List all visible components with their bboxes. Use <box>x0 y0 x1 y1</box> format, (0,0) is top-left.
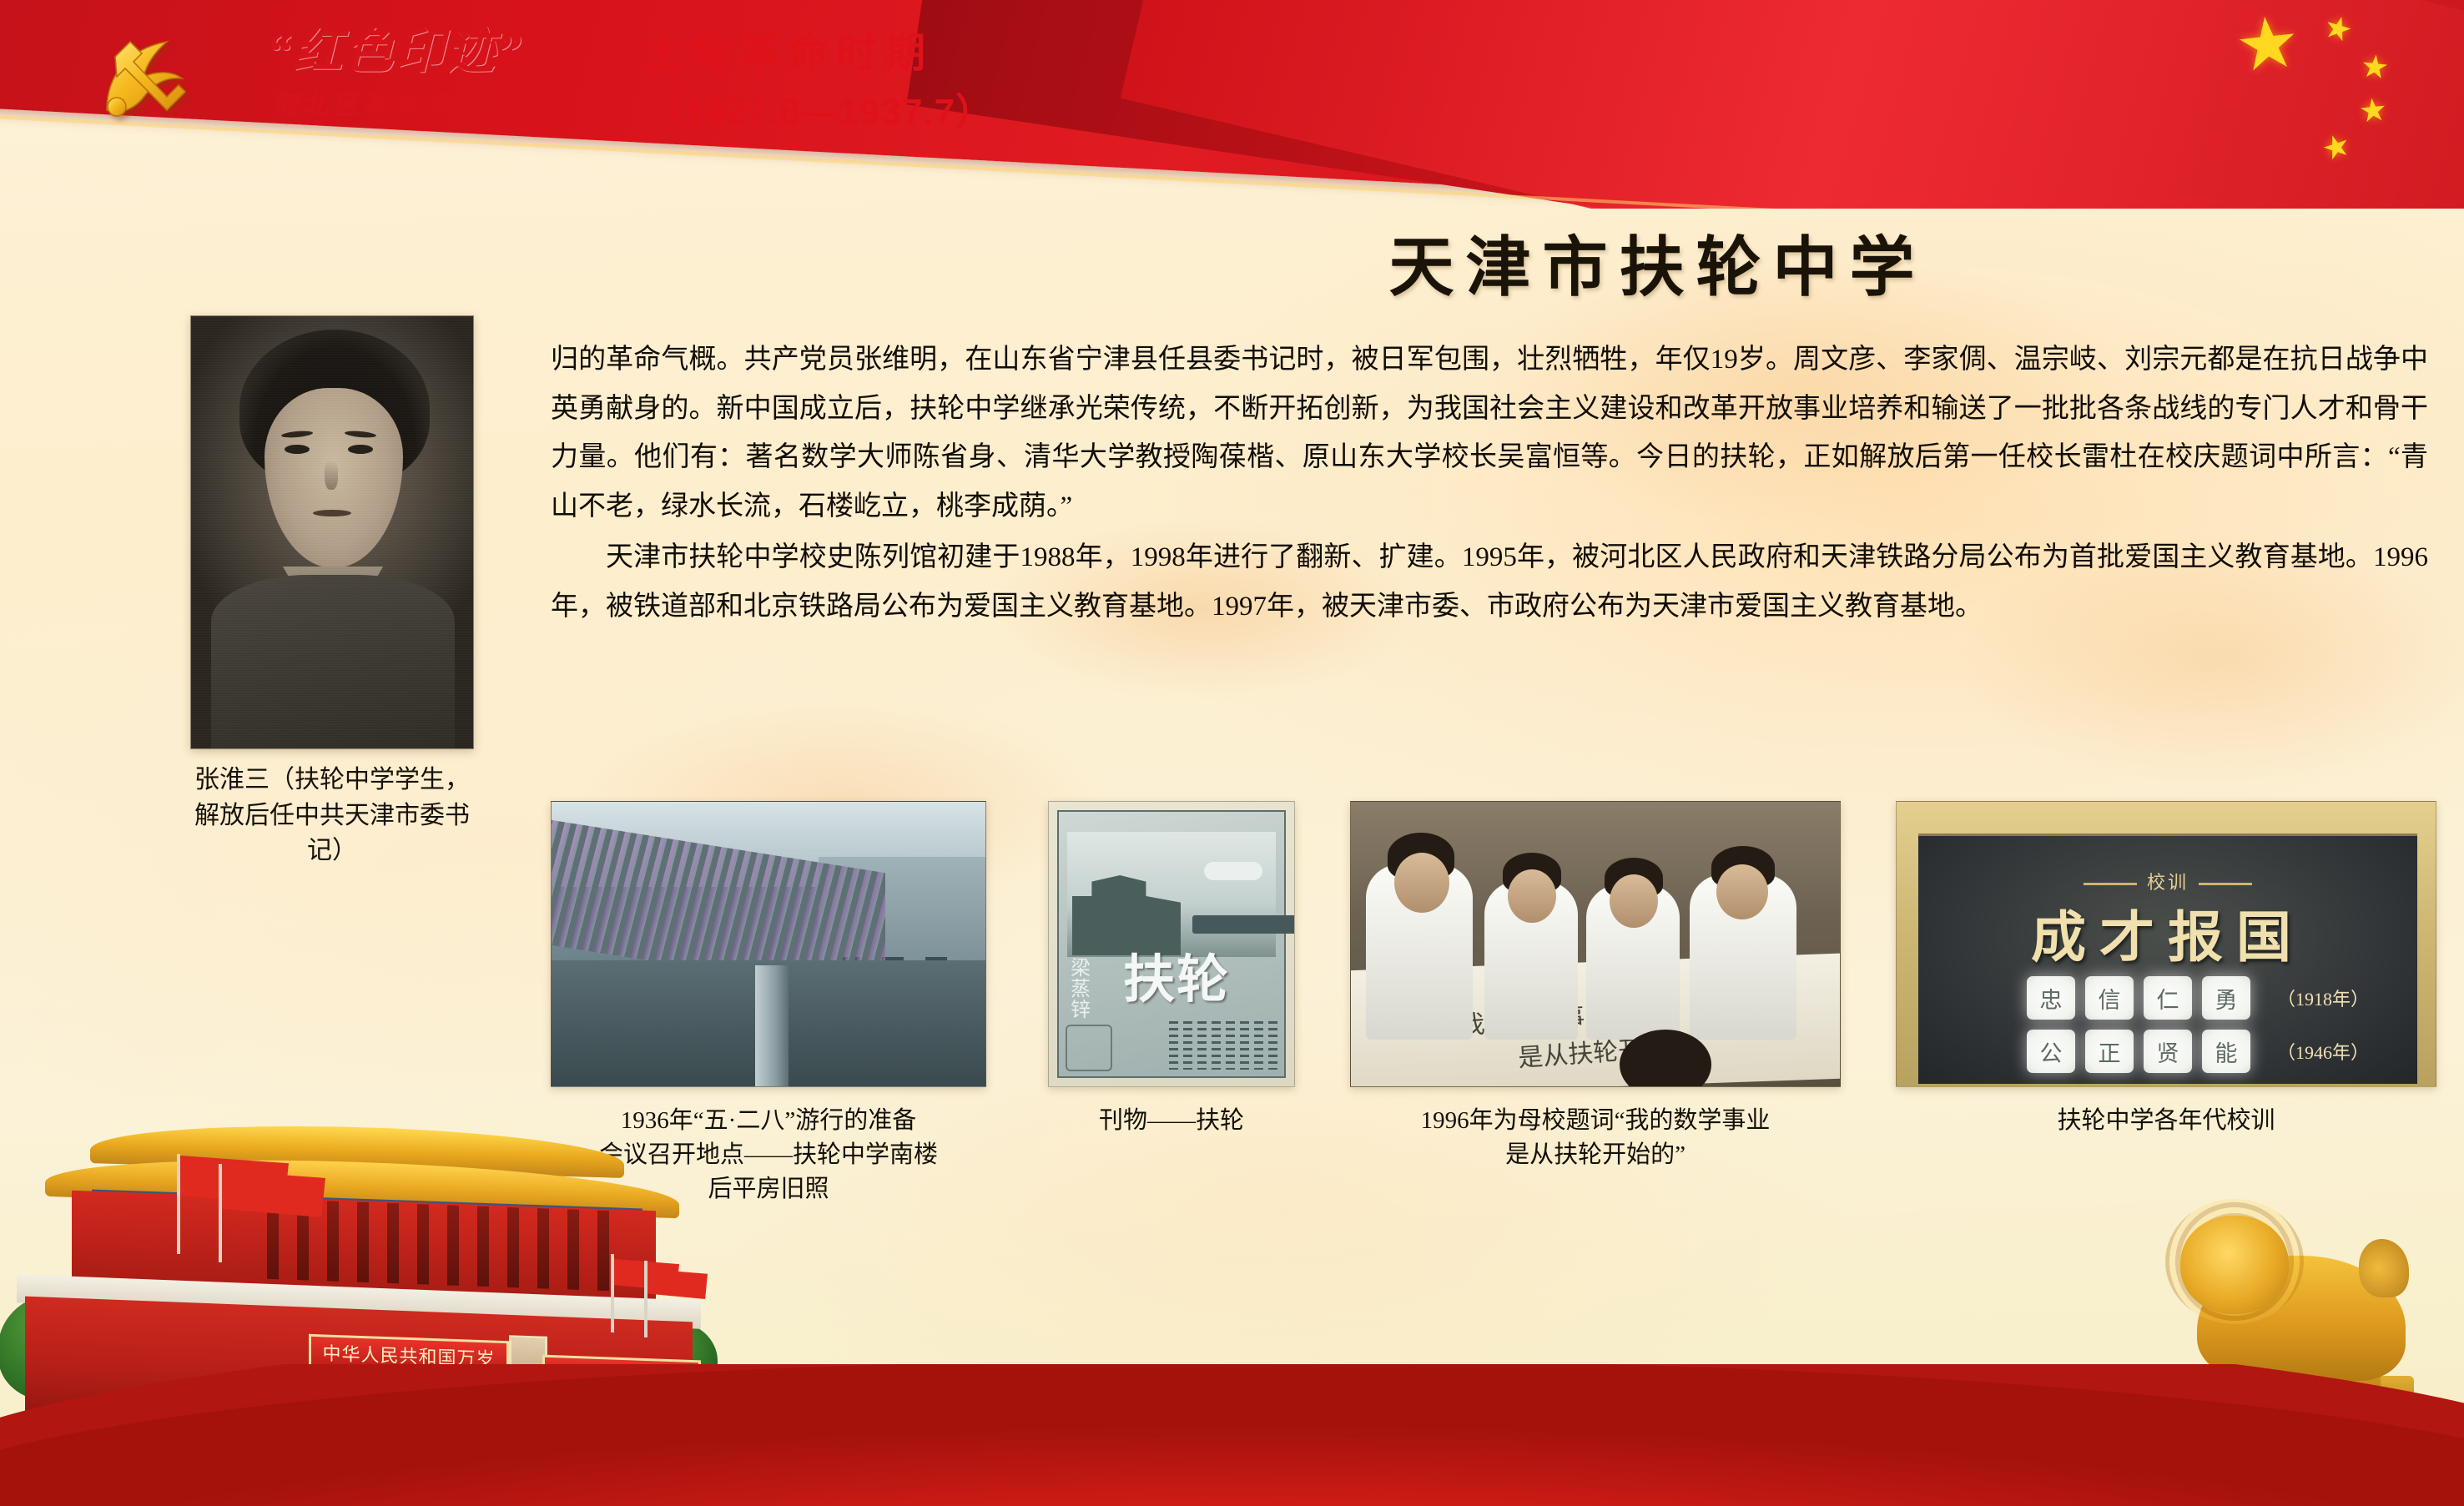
exhibition-board: ★ ★ ★ ★ ★ “红色印迹” 河北区革命遗址展 土地革命时期 （1927 <box>0 0 2464 1506</box>
portrait-photo <box>190 315 474 749</box>
ribbon-gold-edge <box>0 1364 2464 1493</box>
motto-char: 能 <box>2202 1030 2250 1073</box>
lion-tail <box>2359 1239 2409 1297</box>
motto-row-1946: 公 正 贤 能 （1946年） <box>2027 1030 2369 1073</box>
motto-board-label: 校训 <box>2147 872 2189 893</box>
star-icon: ★ <box>2318 128 2355 168</box>
article-paragraph-2: 天津市扶轮中学校史陈列馆初建于1988年，1998年进行了翻新、扩建。1995年… <box>551 533 2428 631</box>
motto-char: 勇 <box>2202 976 2250 1020</box>
photo-person-head <box>1508 869 1556 923</box>
period-years: （1927.8—1937.7） <box>646 82 1227 135</box>
page-title: 天津市扶轮中学 <box>0 215 2464 309</box>
column <box>357 1202 369 1282</box>
rule-left <box>2084 883 2137 885</box>
caption-line: 1996年为母校题词“我的数学事业 <box>1350 1104 1841 1138</box>
motto-board-label-row: 校训 <box>1918 868 2417 894</box>
motto-board-grid: 忠 信 仁 勇 （1918年） 公 正 贤 能 （1946年） <box>2027 976 2369 1083</box>
motto-board-motto: 成才报国 <box>1918 893 2417 973</box>
cloud-illustration <box>1204 862 1262 880</box>
portrait-caption: 张淮三（扶轮中学学生， 解放后任中共天津市委书记） <box>190 763 474 869</box>
star-icon: ★ <box>2320 10 2356 48</box>
caption-line: 是从扶轮开始的” <box>1350 1138 1841 1172</box>
column <box>537 1208 549 1288</box>
flag-stars-group: ★ ★ ★ ★ ★ <box>2072 7 2431 182</box>
toc-line <box>1268 1021 1277 1070</box>
toc-line <box>1226 1021 1235 1070</box>
column <box>447 1205 459 1285</box>
train-illustration <box>1192 915 1295 934</box>
gallery-item: 我的数学事业 是从扶轮开始的 1996年为母校题词“我的数学事业 是从扶轮开始的 <box>1350 801 1841 1172</box>
photo-chimney <box>755 965 789 1087</box>
period-block: 土地革命时期 （1927.8—1937.7） <box>642 32 1227 135</box>
photo-caption: 扶轮中学各年代校训 <box>1896 1104 2436 1138</box>
motto-row-1918: 忠 信 仁 勇 （1918年） <box>2027 976 2369 1020</box>
rule-right <box>2199 883 2252 885</box>
gallery-item: 梁蒸锌 扶轮 刊物——扶轮 <box>1048 801 1295 1138</box>
portrait-block: 张淮三（扶轮中学学生， 解放后任中共天津市委书记） <box>190 315 474 869</box>
caption-line: 扶轮中学各年代校训 <box>1896 1104 2436 1138</box>
column <box>507 1207 519 1287</box>
bottom-ribbon <box>0 1364 2464 1506</box>
motto-char: 仁 <box>2144 976 2192 1020</box>
photo-person-head <box>1610 874 1658 928</box>
toc-line <box>1212 1021 1221 1070</box>
toc-line <box>1169 1021 1178 1070</box>
star-icon: ★ <box>2357 93 2389 128</box>
star-icon: ★ <box>2232 5 2304 83</box>
toc-line <box>1240 1021 1249 1070</box>
motto-char: 正 <box>2085 1030 2134 1073</box>
photo-person-head <box>1394 853 1449 913</box>
flag-pole <box>611 1254 614 1332</box>
library-stamp <box>1066 1025 1112 1071</box>
motto-char: 贤 <box>2144 1030 2192 1073</box>
portrait-caption-line: 张淮三（扶轮中学学生， <box>190 763 474 798</box>
column <box>387 1203 399 1283</box>
photo-grain-overlay <box>191 316 473 748</box>
article-body: 归的革命气概。共产党员张维明，在山东省宁津县任县委书记时，被日军包围，壮烈牺牲，… <box>551 335 2428 632</box>
photo-caption: 1996年为母校题词“我的数学事业 是从扶轮开始的” <box>1350 1104 1841 1172</box>
column <box>597 1211 609 1291</box>
journal-cover-scene <box>1067 832 1276 957</box>
motto-char: 忠 <box>2027 976 2075 1020</box>
star-icon: ★ <box>2359 50 2391 84</box>
caption-line: 1936年“五·二八”游行的准备 <box>551 1104 986 1138</box>
photo-caption: 刊物——扶轮 <box>1048 1104 1295 1138</box>
inscription-ceremony-photo: 我的数学事业 是从扶轮开始的 <box>1350 801 1841 1087</box>
flag-pole <box>177 1154 180 1254</box>
page-title-text: 天津市扶轮中学 <box>537 215 1926 309</box>
motto-char: 信 <box>2085 976 2134 1020</box>
gallery-item: 1936年“五·二八”游行的准备 会议召开地点——扶轮中学南楼 后平房旧照 <box>551 801 986 1207</box>
period-name: 土地革命时期 <box>642 32 1227 77</box>
article-paragraph-1: 归的革命气概。共产党员张维明，在山东省宁津县任县委书记时，被日军包围，壮烈牺牲，… <box>551 335 2428 531</box>
motto-char: 公 <box>2027 1030 2075 1073</box>
portrait-caption-line: 解放后任中共天津市委书记） <box>190 798 474 869</box>
column <box>567 1209 579 1289</box>
school-motto-board-photo: 校训 成才报国 忠 信 仁 勇 （1918年） 公 正 <box>1896 801 2436 1087</box>
motto-year: （1946年） <box>2277 1038 2369 1065</box>
red-flag <box>647 1269 708 1299</box>
toc-line <box>1254 1021 1263 1070</box>
flag-pole <box>644 1261 647 1337</box>
flag-pole <box>219 1164 222 1262</box>
toc-line <box>1183 1021 1192 1070</box>
motto-year: （1918年） <box>2277 985 2369 1011</box>
column <box>327 1201 339 1281</box>
journal-cover-inner: 梁蒸锌 扶轮 <box>1057 810 1286 1078</box>
journal-cover-photo: 梁蒸锌 扶轮 <box>1048 801 1295 1087</box>
south-building-photo <box>551 801 986 1087</box>
hammer-and-sickle-emblem-icon <box>87 23 195 128</box>
gallery-item: 校训 成才报国 忠 信 仁 勇 （1918年） 公 正 <box>1896 801 2436 1138</box>
lion-head <box>2180 1216 2289 1314</box>
tiananmen-columns <box>267 1199 659 1292</box>
toc-line <box>1197 1021 1207 1070</box>
motto-board: 校训 成才报国 忠 信 仁 勇 （1918年） 公 正 <box>1918 834 2417 1084</box>
column <box>417 1204 429 1284</box>
great-wall-illustration <box>1072 875 1181 955</box>
caption-line: 刊物——扶轮 <box>1048 1104 1295 1138</box>
photo-person-head <box>1716 864 1768 919</box>
column <box>477 1206 489 1287</box>
